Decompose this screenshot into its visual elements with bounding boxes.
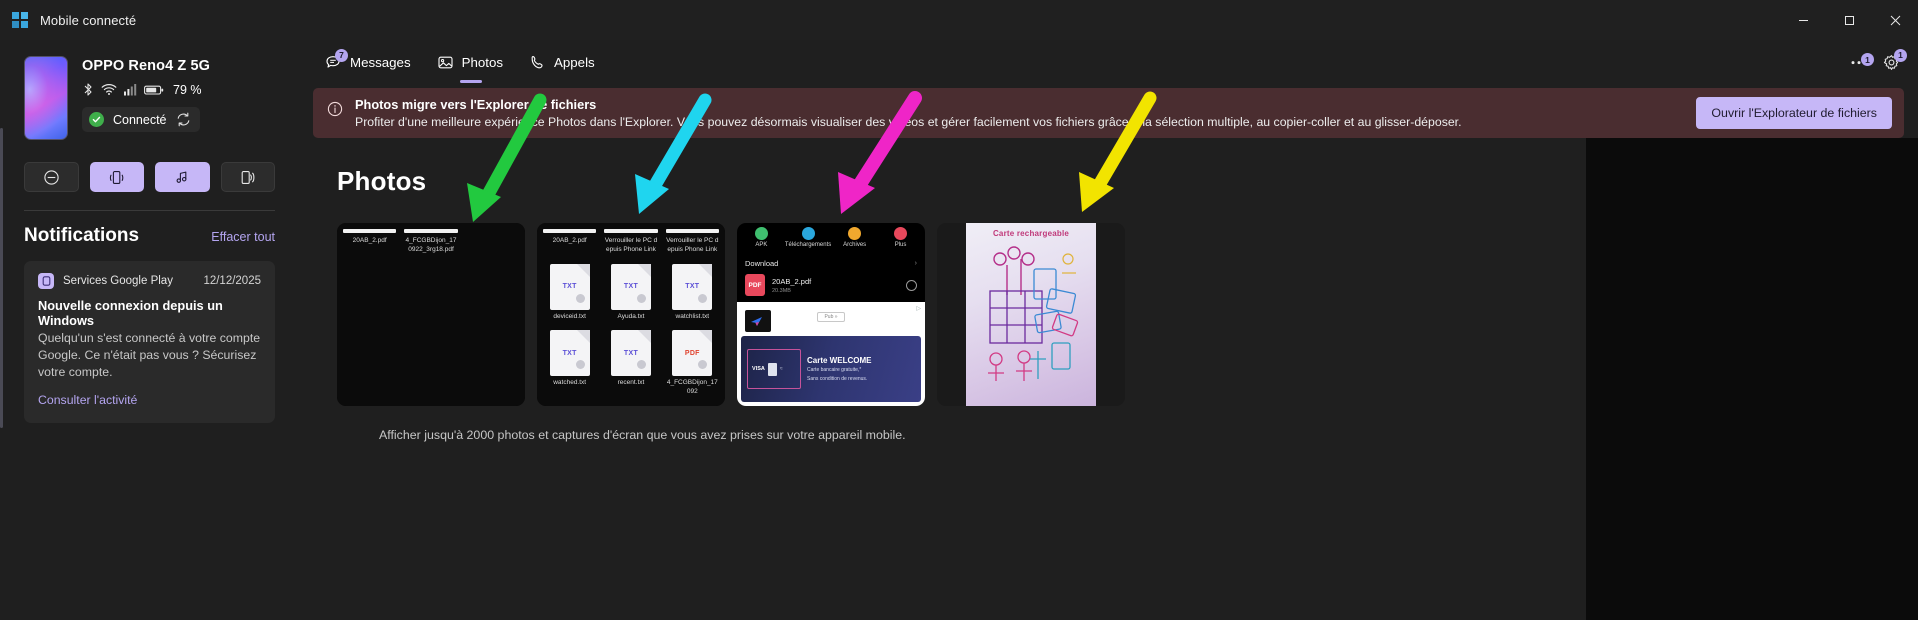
banner-subtitle: Profiter d'une meilleure expérience Phot… <box>355 115 1682 129</box>
minimize-button[interactable] <box>1780 0 1826 40</box>
open-file-explorer-button[interactable]: Ouvrir l'Explorateur de fichiers <box>1696 97 1892 129</box>
page-title: Photos <box>337 166 1586 197</box>
file-type-label: PDF <box>685 350 700 357</box>
photo-thumbnail-3[interactable]: APK Téléchargements Archives <box>737 223 925 406</box>
window-controls <box>1780 0 1918 40</box>
file-label: Ayuda.txt <box>604 313 657 322</box>
device-sidebar: OPPO Reno4 Z 5G <box>0 40 295 620</box>
device-summary: OPPO Reno4 Z 5G <box>0 40 295 144</box>
txt-file-icon: TXT <box>611 264 651 310</box>
file-type-label: TXT <box>624 350 638 357</box>
check-icon <box>89 112 104 127</box>
file-top-bar <box>666 229 719 233</box>
file-label: 20AB_2.pdf <box>543 237 596 246</box>
file-label: 20AB_2.pdf <box>343 237 396 246</box>
file-type-label: TXT <box>624 283 638 290</box>
contactless-icon: ≈ <box>780 366 783 372</box>
window-body: OPPO Reno4 Z 5G <box>0 40 1918 620</box>
phone-link-window: Mobile connecté OPPO Reno4 Z 5G <box>0 0 1918 620</box>
photo-thumbnail-1[interactable]: 20AB_2.pdf 4_FCGBDijon_170922_3rg18.pdf <box>337 223 525 406</box>
tab-bar: 7 Messages Photos <box>295 40 1918 84</box>
phone-icon <box>529 54 546 71</box>
photo-icon <box>437 54 454 71</box>
dm-file-name: 20AB_2.pdf <box>772 277 811 286</box>
notification-action-link[interactable]: Consulter l'activité <box>38 393 137 407</box>
dm-tab-label: Plus <box>878 242 923 249</box>
info-icon <box>327 97 343 117</box>
visa-card-graphic: VISA ≈ <box>747 349 801 389</box>
ad-brand-logo-icon <box>745 310 771 332</box>
main-content: 7 Messages Photos <box>295 40 1918 620</box>
file-label: Verrouiller le PC depuis Phone Link <box>604 237 657 255</box>
phone-link-logo-icon <box>12 12 28 28</box>
dm-tab-downloads: Téléchargements <box>785 227 831 249</box>
settings-badge: 1 <box>1894 49 1907 62</box>
dm-tab-more: Plus <box>878 227 923 249</box>
txt-file-icon: TXT <box>611 330 651 376</box>
tab-calls-label: Appels <box>554 55 595 70</box>
photos-area: Photos 20AB_2.pdf <box>295 138 1918 620</box>
title-bar: Mobile connecté <box>0 0 1918 40</box>
ad-marker-icon: ▷ <box>916 305 921 312</box>
dnd-button[interactable] <box>24 162 79 192</box>
ad-title: Carte WELCOME <box>807 356 871 365</box>
file-type-label: TXT <box>563 350 577 357</box>
connection-status-pill[interactable]: Connecté <box>82 107 200 132</box>
dm-tab-archives: Archives <box>832 227 877 249</box>
file-label: recent.txt <box>604 379 657 388</box>
signal-icon <box>124 83 137 96</box>
dm-section-label: Download <box>745 259 778 268</box>
device-name: OPPO Reno4 Z 5G <box>82 58 210 74</box>
notification-item[interactable]: Services Google Play 12/12/2025 Nouvelle… <box>24 261 275 423</box>
battery-percent: 79 % <box>173 83 202 97</box>
tab-messages-label: Messages <box>350 55 411 70</box>
visa-label: VISA <box>752 366 765 372</box>
sidebar-scrollbar[interactable] <box>0 128 3 428</box>
messages-unread-badge: 7 <box>335 49 348 62</box>
dm-file-size: 20.3MB <box>772 288 811 294</box>
clear-all-button[interactable]: Effacer tout <box>211 230 275 244</box>
ad-pill-label: Pub » <box>817 312 844 322</box>
photo-thumbnail-4[interactable]: Carte rechargeable <box>937 223 1125 406</box>
notification-date: 12/12/2025 <box>203 275 261 287</box>
quick-actions <box>0 144 295 192</box>
wifi-icon <box>101 83 117 96</box>
pdf-badge: PDF <box>745 274 765 296</box>
refresh-icon[interactable] <box>176 112 191 127</box>
chevron-right-icon: › <box>915 260 917 267</box>
dm-tab-label: Téléchargements <box>785 242 831 249</box>
media-button[interactable] <box>155 162 210 192</box>
ad-line-2: Sans condition de revenus. <box>807 376 871 383</box>
tab-messages[interactable]: 7 Messages <box>315 42 423 82</box>
file-top-bar <box>343 229 396 233</box>
file-type-label: TXT <box>563 283 577 290</box>
cast-button[interactable] <box>221 162 276 192</box>
dm-tab-label: APK <box>739 242 784 249</box>
file-top-bar <box>404 229 457 233</box>
notification-headline: Nouvelle connexion depuis un Windows <box>38 298 261 328</box>
photos-right-blank-pane <box>1586 138 1918 620</box>
photos-pane: Photos 20AB_2.pdf <box>295 138 1586 620</box>
card-artwork <box>974 239 1088 398</box>
file-label: watchlist.txt <box>666 313 719 322</box>
device-wallpaper-thumbnail <box>24 56 68 140</box>
notification-body: Quelqu'un s'est connecté à votre compte … <box>38 330 261 381</box>
tab-photos-label: Photos <box>462 55 503 70</box>
file-top-bar <box>543 229 596 233</box>
ring-device-button[interactable] <box>90 162 145 192</box>
dm-tab-label: Archives <box>832 242 877 249</box>
tab-bar-actions: 1 1 <box>1849 40 1900 84</box>
maximize-button[interactable] <box>1826 0 1872 40</box>
photo-thumbnail-2[interactable]: 20AB_2.pdf Verrouiller le PC depuis Phon… <box>537 223 725 406</box>
file-label: deviceid.txt <box>543 313 596 322</box>
txt-file-icon: TXT <box>672 264 712 310</box>
window-title: Mobile connecté <box>40 13 136 28</box>
notification-header: Services Google Play 12/12/2025 <box>38 273 261 289</box>
settings-button[interactable]: 1 <box>1883 54 1900 71</box>
notification-app-name: Services Google Play <box>63 275 173 287</box>
file-label: watched.txt <box>543 379 596 388</box>
photos-caption: Afficher jusqu'à 2000 photos et captures… <box>337 406 1586 442</box>
dm-tab-apk: APK <box>739 227 784 249</box>
file-top-bar <box>604 229 657 233</box>
txt-file-icon: TXT <box>550 330 590 376</box>
close-button[interactable] <box>1872 0 1918 40</box>
migration-banner: Photos migre vers l'Explorer de fichiers… <box>313 88 1904 138</box>
dm-select-radio <box>906 280 917 291</box>
connection-status-label: Connecté <box>113 113 167 127</box>
card-photo-title: Carte rechargeable <box>966 223 1096 238</box>
txt-file-icon: TXT <box>550 264 590 310</box>
bluetooth-icon <box>82 82 94 97</box>
notifications-title: Notifications <box>24 225 139 247</box>
tab-calls[interactable]: Appels <box>519 42 607 82</box>
file-label: 4_FCGBDijon_17092 <box>666 379 719 397</box>
banner-title: Photos migre vers l'Explorer de fichiers <box>355 97 1682 112</box>
file-type-label: TXT <box>685 283 699 290</box>
google-play-services-icon <box>38 273 54 289</box>
battery-icon <box>144 84 164 96</box>
more-options-badge: 1 <box>1861 53 1874 66</box>
photo-grid: 20AB_2.pdf 4_FCGBDijon_170922_3rg18.pdf <box>337 223 1586 406</box>
more-options-button[interactable]: 1 <box>1849 58 1867 66</box>
tab-photos[interactable]: Photos <box>427 42 515 82</box>
pdf-file-icon: PDF <box>672 330 712 376</box>
device-status-icons: 79 % <box>82 82 210 97</box>
notifications-header: Notifications Effacer tout <box>0 211 295 247</box>
message-icon: 7 <box>325 54 342 71</box>
file-label: 4_FCGBDijon_170922_3rg18.pdf <box>404 237 457 255</box>
ad-line-1: Carte bancaire gratuite,* <box>807 367 871 374</box>
file-label: Verrouiller le PC depuis Phone Link <box>666 237 719 255</box>
